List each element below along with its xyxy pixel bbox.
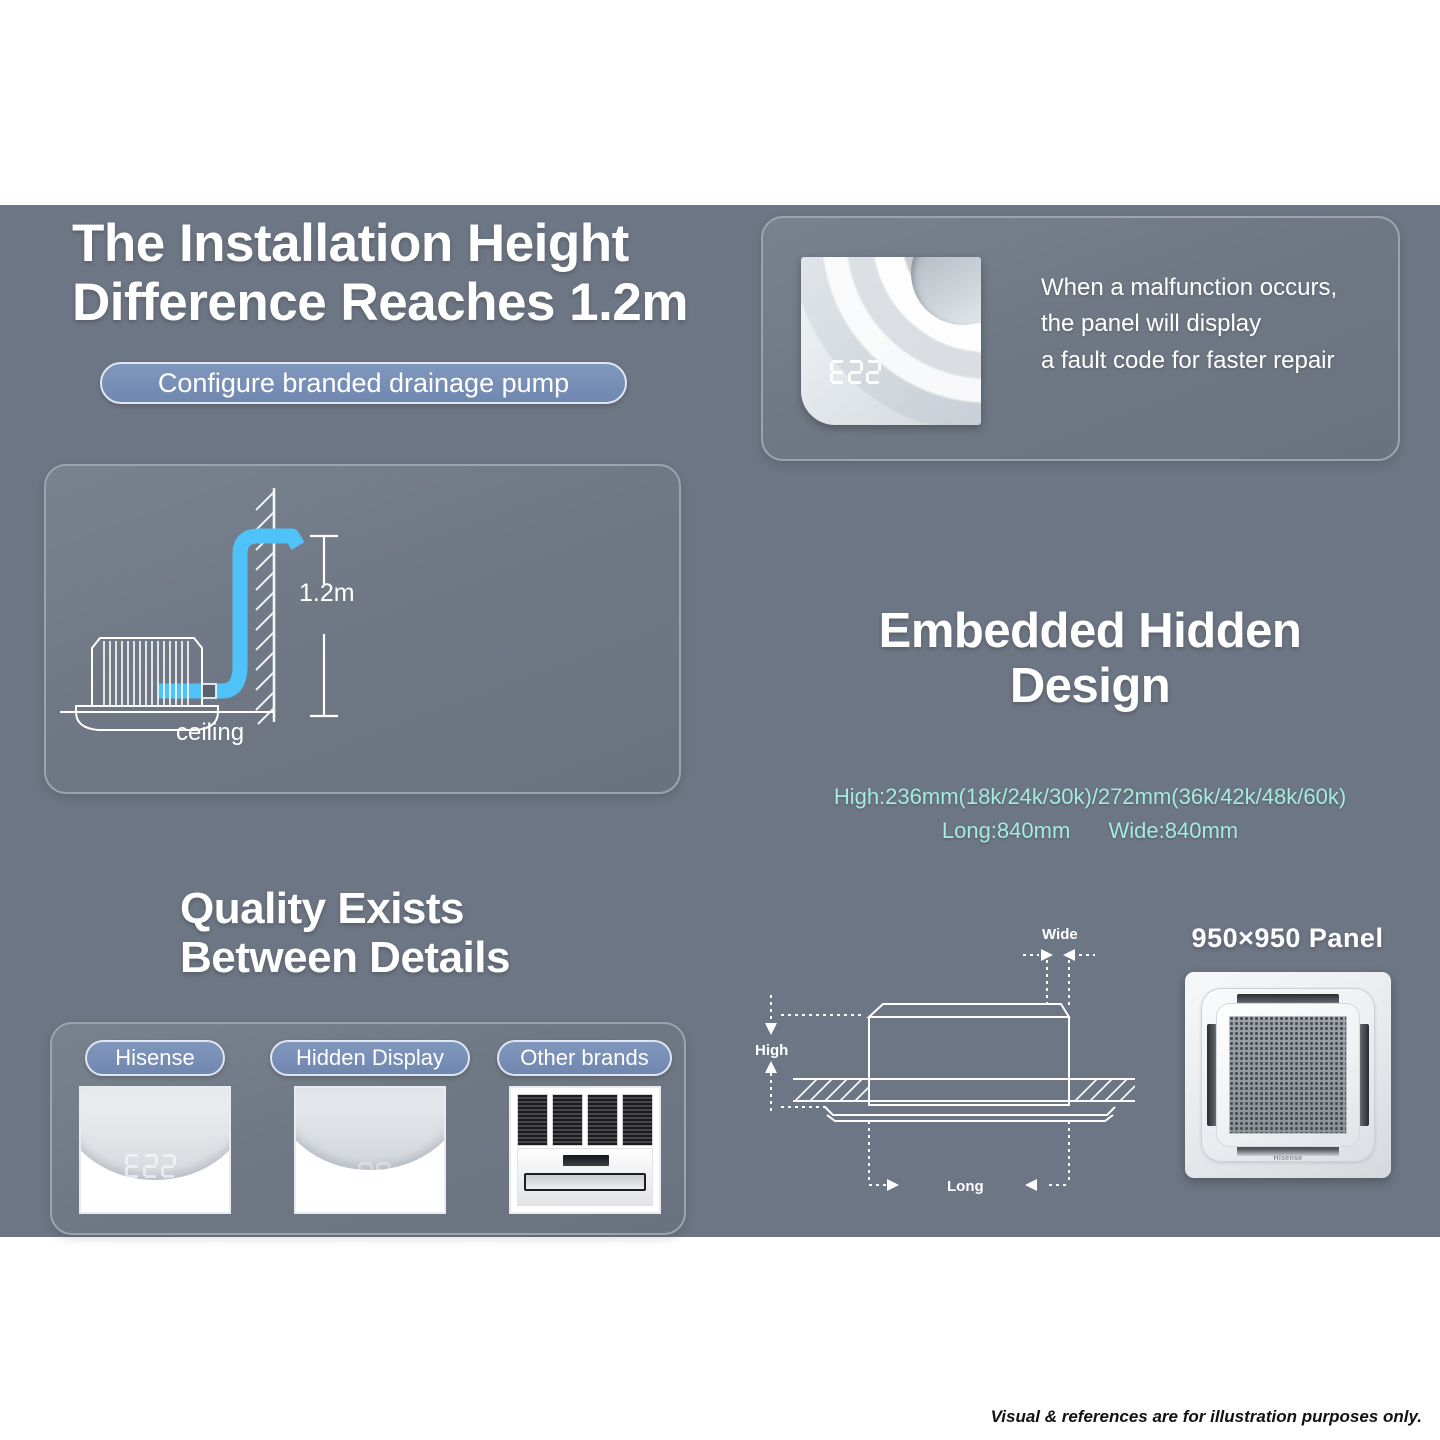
panel-brand-logo: Hisense [1185, 1155, 1391, 1162]
drainage-pump-badge: Configure branded drainage pump [100, 362, 627, 404]
drainage-diagram-card: 1.2m ceiling [44, 464, 681, 794]
panel-title-text: 950×950 Panel [1192, 923, 1384, 953]
seg-digit-2b [161, 1154, 176, 1178]
unit-body-outline [793, 1004, 1135, 1121]
unit-fins [104, 641, 188, 706]
seg-digit-8a [358, 1162, 373, 1186]
installation-title: The Installation Height Difference Reach… [72, 214, 732, 333]
dim-label-long: Long [947, 1178, 984, 1195]
ceiling-label: ceiling [176, 719, 244, 747]
seg-digit-2b [866, 360, 881, 384]
dim-label-high: High [755, 1042, 788, 1059]
brand-comparison-card: Hisense Hidden D [50, 1022, 686, 1235]
comparison-label-hidden-display-text: Hidden Display [296, 1045, 444, 1071]
seg-digit-E [125, 1154, 140, 1178]
embedded-title-line-2: Design [770, 659, 1410, 714]
fault-text-line-1: When a malfunction occurs, [1041, 270, 1381, 306]
hidden-display-code [358, 1162, 391, 1186]
ceiling-hatch [795, 1079, 1135, 1101]
infographic-board: The Installation Height Difference Reach… [0, 205, 1440, 1237]
height-dimension-line [310, 536, 338, 716]
fault-card-text: When a malfunction occurs, the panel wil… [1041, 270, 1381, 379]
other-brand-body [517, 1148, 653, 1206]
comparison-item-hidden-display: Hidden Display [270, 1040, 470, 1214]
installation-title-line-2: Difference Reaches 1.2m [72, 273, 732, 332]
drain-height-label: 1.2m [299, 579, 355, 608]
seg-digit-E [830, 360, 845, 384]
fault-text-line-3: a fault code for faster repair [1041, 343, 1381, 379]
dimension-leaders [771, 953, 1095, 1185]
installation-title-line-1: The Installation Height [72, 214, 732, 273]
other-brand-grille [517, 1094, 653, 1146]
panel-arc-notch [911, 257, 981, 325]
wall-hatch-strokes [256, 492, 274, 724]
other-brand-display [563, 1155, 609, 1166]
comparison-label-hisense: Hisense [85, 1040, 225, 1076]
panel-intake-grille [1229, 1016, 1347, 1134]
embedded-design-title: Embedded Hidden Design [770, 604, 1410, 714]
comparison-label-hisense-text: Hisense [115, 1045, 194, 1071]
drain-port [202, 684, 216, 698]
dims-long-label: Long:840mm [942, 818, 1070, 843]
disclaimer-text: Visual & references are for illustration… [991, 1407, 1422, 1427]
dims-line-1: High:236mm(18k/24k/30k)/272mm(36k/42k/48… [770, 780, 1410, 814]
other-brand-vent [524, 1173, 646, 1191]
hisense-display-code [125, 1154, 176, 1178]
seg-digit-2a [848, 360, 863, 384]
drainage-pump-badge-label: Configure branded drainage pump [158, 368, 569, 399]
embedded-title-line-1: Embedded Hidden [770, 604, 1410, 659]
comparison-label-other-brands: Other brands [497, 1040, 672, 1076]
quality-title-line-1: Quality Exists [180, 884, 700, 933]
dimension-line-drawing: High Long Wide [735, 915, 1135, 1215]
fault-code-card: When a malfunction occurs, the panel wil… [761, 216, 1400, 461]
comparison-image-other-brands [509, 1086, 661, 1214]
dims-line-2: Long:840mm Wide:840mm [770, 814, 1410, 848]
drain-pipe-outlet [292, 536, 298, 546]
dim-label-wide: Wide [1042, 926, 1078, 943]
comparison-image-hidden-display [294, 1086, 446, 1214]
panel-corner-photo [801, 257, 981, 425]
cassette-panel-photo: Hisense [1185, 972, 1391, 1178]
panel-title: 950×950 Panel [1160, 923, 1415, 954]
dimension-drawing-svg: High Long Wide [735, 915, 1135, 1215]
comparison-image-hisense [79, 1086, 231, 1214]
comparison-item-other-brands: Other brands [497, 1040, 672, 1214]
comparison-label-other-brands-text: Other brands [520, 1045, 648, 1071]
comparison-label-hidden-display: Hidden Display [270, 1040, 470, 1076]
comparison-item-hisense: Hisense [70, 1040, 240, 1214]
quality-title-line-2: Between Details [180, 933, 700, 982]
embedded-dimensions-text: High:236mm(18k/24k/30k)/272mm(36k/42k/48… [770, 780, 1410, 848]
panel-curve-shape [294, 1086, 446, 1170]
fault-text-line-2: the panel will display [1041, 306, 1381, 342]
fault-code-display [830, 360, 881, 384]
drainage-diagram-svg [46, 466, 683, 796]
dims-wide-label: Wide:840mm [1109, 818, 1239, 843]
quality-title: Quality Exists Between Details [180, 884, 700, 983]
seg-digit-8b [376, 1162, 391, 1186]
seg-digit-2a [143, 1154, 158, 1178]
dimension-arrowheads [765, 949, 1075, 1191]
